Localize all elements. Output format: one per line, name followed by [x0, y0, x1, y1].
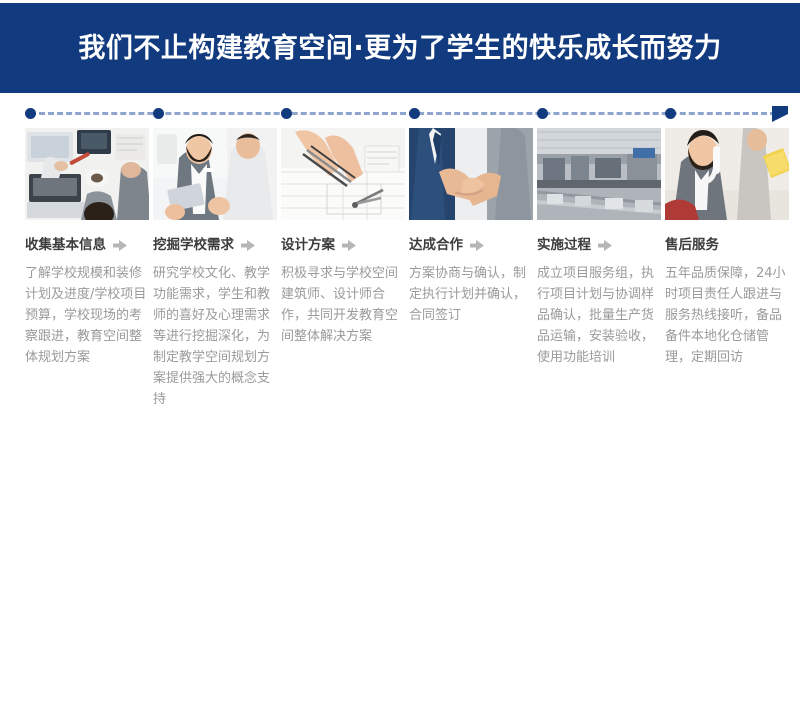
step-card-3: 设计方案 积极寻求与学校空间建筑师、设计师合作，共同开发教育空间整体解决方案	[281, 128, 405, 410]
step-header-4: 达成合作	[409, 236, 533, 254]
step-title-3: 设计方案	[281, 236, 335, 254]
header-banner: 我们不止构建教育空间·更为了学生的快乐成长而努力	[0, 3, 800, 93]
step-title-4: 达成合作	[409, 236, 463, 254]
customer-service-call-photo	[665, 128, 789, 220]
drafting-blueprint-photo	[281, 128, 405, 220]
process-steps: 收集基本信息 了解学校规模和装修计划及进度/学校项目预算，学校现场的考察跟进，教…	[25, 128, 790, 410]
step-header-5: 实施过程	[537, 236, 661, 254]
step-header-6: 售后服务	[665, 236, 789, 254]
step-arrow-icon	[342, 240, 356, 251]
timeline-dot-3	[281, 108, 292, 119]
banner-title: 我们不止构建教育空间·更为了学生的快乐成长而努力	[78, 35, 721, 62]
step-title-1: 收集基本信息	[25, 236, 106, 254]
step-header-3: 设计方案	[281, 236, 405, 254]
step-card-4: 达成合作 方案协商与确认，制定执行计划并确认，合同签订	[409, 128, 533, 410]
timeline-dot-4	[409, 108, 420, 119]
timeline-dot-1	[25, 108, 36, 119]
step-card-6: 售后服务 五年品质保障，24小时项目责任人跟进与服务热线接听，备品备件本地化仓储…	[665, 128, 789, 410]
step-desc-1: 了解学校规模和装修计划及进度/学校项目预算，学校现场的考察跟进，教育空间整体规划…	[25, 263, 147, 368]
handshake-photo	[409, 128, 533, 220]
team-meeting-photo	[25, 128, 149, 220]
step-arrow-icon	[598, 240, 612, 251]
step-card-2: 挖掘学校需求 研究学校文化、教学功能需求，学生和教师的喜好及心理需求等进行挖掘深…	[153, 128, 277, 410]
step-arrow-icon	[470, 240, 484, 251]
consultation-photo	[153, 128, 277, 220]
step-arrow-icon	[113, 240, 127, 251]
step-arrow-icon	[241, 240, 255, 251]
timeline-dot-5	[537, 108, 548, 119]
step-desc-5: 成立项目服务组，执行项目计划与协调样品确认，批量生产货品运输，安装验收，使用功能…	[537, 263, 659, 368]
factory-production-line-photo	[537, 128, 661, 220]
process-timeline	[0, 106, 800, 122]
step-desc-2: 研究学校文化、教学功能需求，学生和教师的喜好及心理需求等进行挖掘深化，为制定教学…	[153, 263, 275, 410]
arrow-right-icon	[772, 106, 788, 122]
step-title-5: 实施过程	[537, 236, 591, 254]
step-card-5: 实施过程 成立项目服务组，执行项目计划与协调样品确认，批量生产货品运输，安装验收…	[537, 128, 661, 410]
timeline-dot-6	[665, 108, 676, 119]
step-header-2: 挖掘学校需求	[153, 236, 277, 254]
timeline-dot-2	[153, 108, 164, 119]
step-header-1: 收集基本信息	[25, 236, 149, 254]
step-desc-3: 积极寻求与学校空间建筑师、设计师合作，共同开发教育空间整体解决方案	[281, 263, 403, 347]
step-card-1: 收集基本信息 了解学校规模和装修计划及进度/学校项目预算，学校现场的考察跟进，教…	[25, 128, 149, 410]
step-desc-6: 五年品质保障，24小时项目责任人跟进与服务热线接听，备品备件本地化仓储管理，定期…	[665, 263, 787, 368]
step-title-2: 挖掘学校需求	[153, 236, 234, 254]
step-title-6: 售后服务	[665, 236, 719, 254]
step-desc-4: 方案协商与确认，制定执行计划并确认，合同签订	[409, 263, 531, 326]
